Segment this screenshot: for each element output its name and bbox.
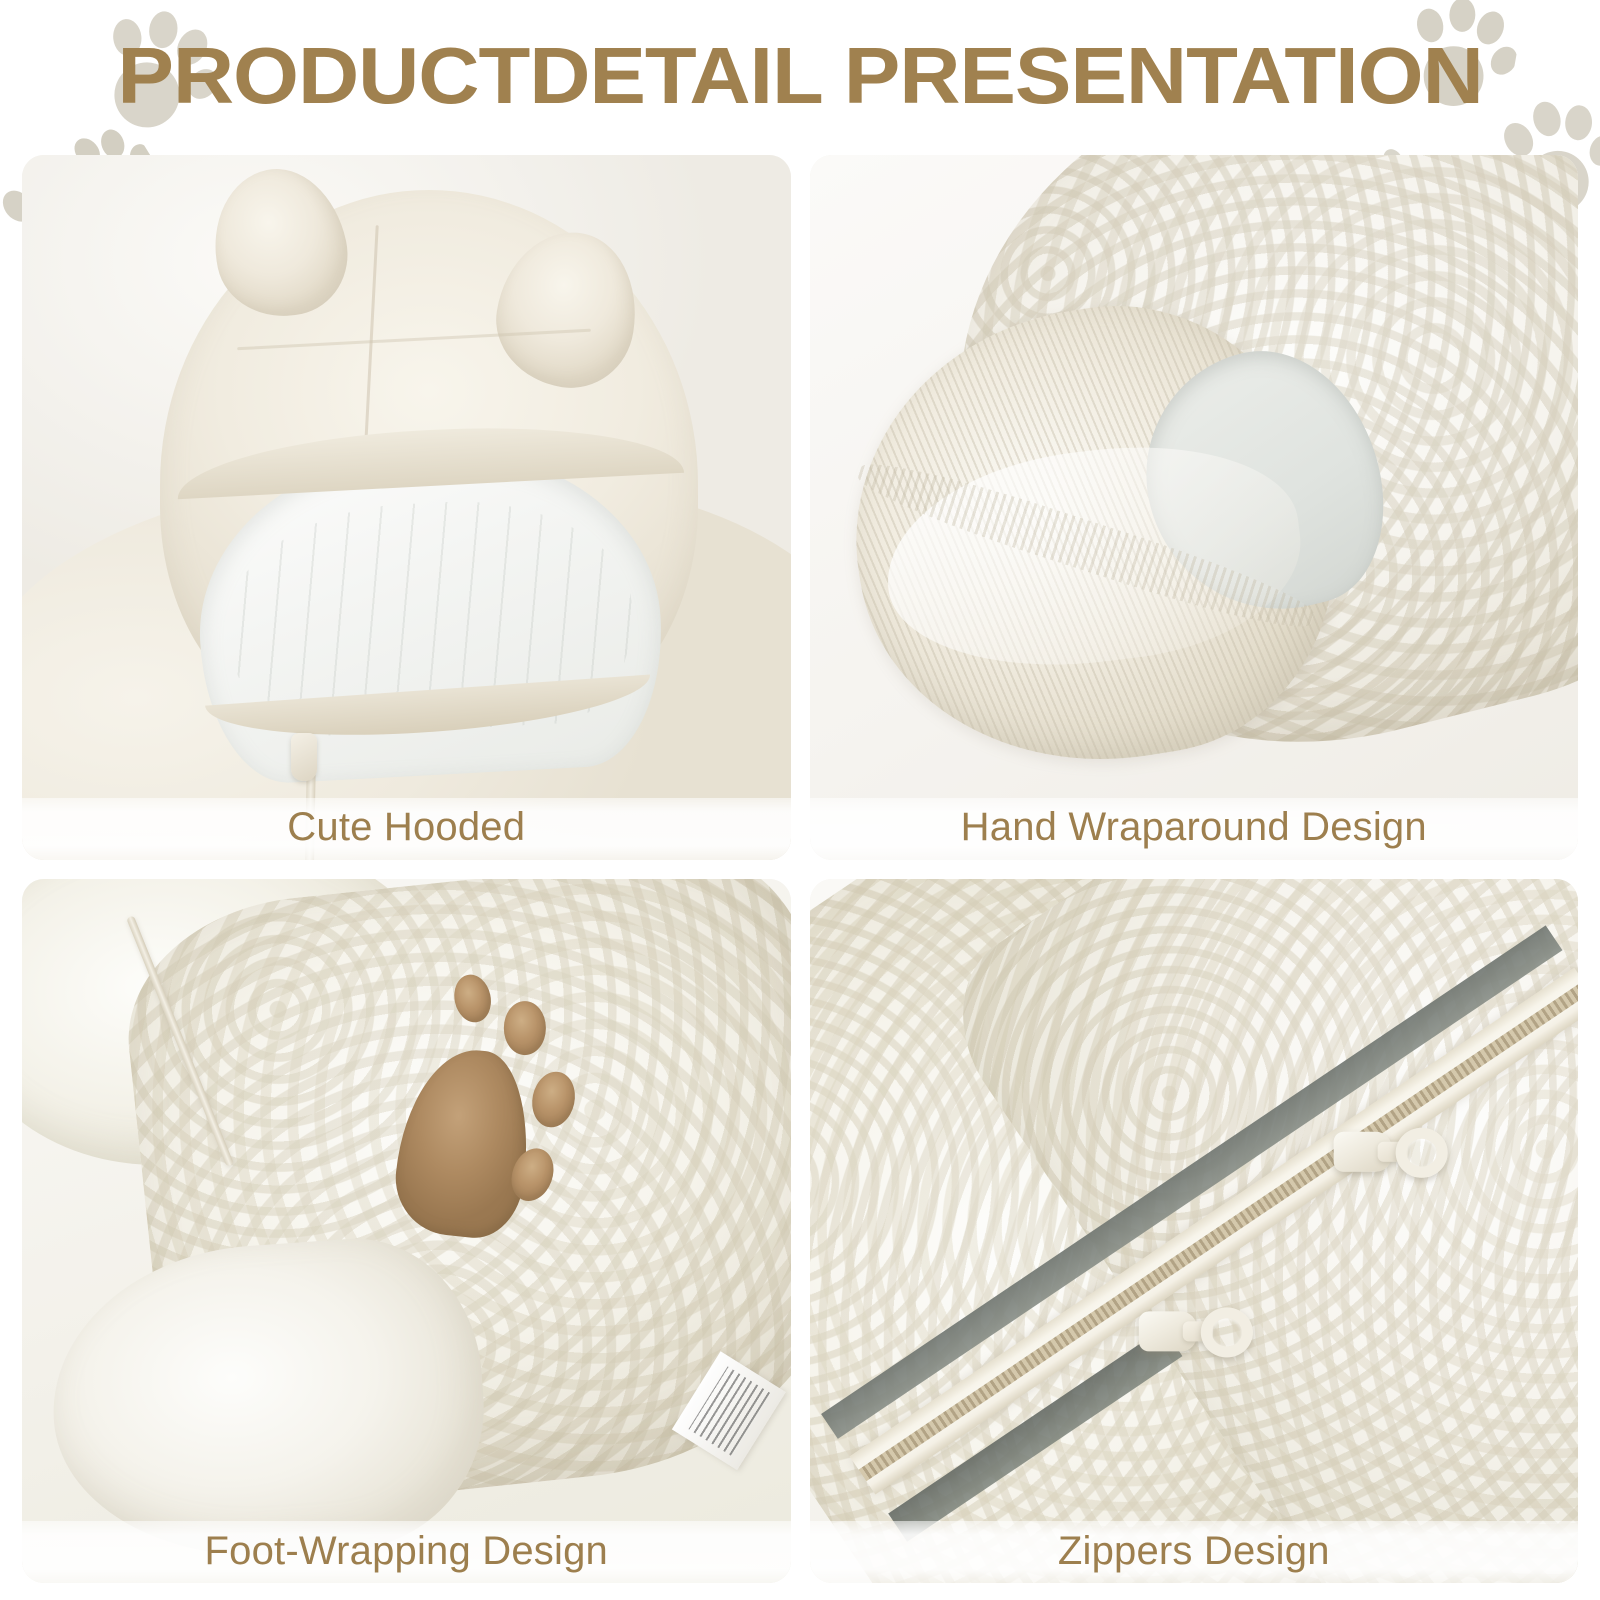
panel-caption-label: Foot-Wrapping Design: [205, 1531, 608, 1574]
zipper-pull-icon-bottom: [1138, 1305, 1256, 1359]
panel-caption-label: Cute Hooded: [287, 807, 525, 850]
zipper-assembly: [810, 879, 1579, 1584]
detail-panel-zippers[interactable]: Zippers Design: [810, 879, 1579, 1584]
panel-caption-bar: Cute Hooded: [22, 798, 791, 860]
page-title: PRODUCTDETAIL PRESENTATION: [117, 36, 1482, 116]
detail-panel-hand-wraparound[interactable]: Hand Wraparound Design: [810, 155, 1579, 860]
product-photo-foot: [22, 879, 791, 1584]
zipper-teeth: [858, 981, 1578, 1481]
product-photo-hood: [22, 155, 791, 860]
panel-caption-bar: Zippers Design: [810, 1521, 1579, 1583]
product-detail-grid: Cute Hooded Hand Wraparound Design: [22, 155, 1578, 1583]
product-photo-zippers: [810, 879, 1579, 1584]
zipper-pull-icon: [291, 733, 317, 781]
page-header: PRODUCTDETAIL PRESENTATION: [0, 0, 1600, 152]
panel-caption-label: Zippers Design: [1058, 1531, 1330, 1574]
embroidered-paw-icon: [377, 967, 604, 1254]
inner-lining: [821, 925, 1562, 1438]
detail-panel-cute-hooded[interactable]: Cute Hooded: [22, 155, 791, 860]
panel-caption-bar: Foot-Wrapping Design: [22, 1521, 791, 1583]
panel-caption-label: Hand Wraparound Design: [961, 807, 1427, 850]
panel-caption-bar: Hand Wraparound Design: [810, 798, 1579, 860]
zipper-pull-icon-top: [1333, 1126, 1451, 1180]
product-photo-cuff: [810, 155, 1579, 860]
detail-panel-foot-wrapping[interactable]: Foot-Wrapping Design: [22, 879, 791, 1584]
